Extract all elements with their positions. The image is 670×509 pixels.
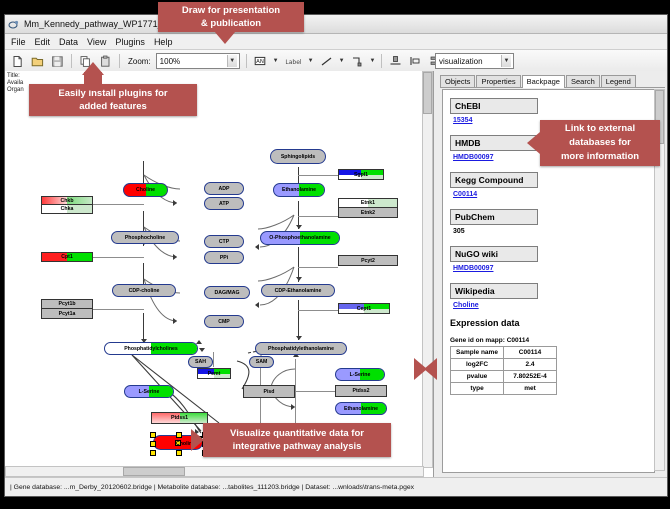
menu-item-plugins[interactable]: Plugins xyxy=(115,37,145,47)
callout-plugins-stem xyxy=(84,72,102,90)
meta-title-label: Title: xyxy=(7,73,24,80)
arrow-left-1 xyxy=(255,244,259,250)
node-label: Pcyt1b xyxy=(58,301,75,307)
callout-install-plugins: Easily install plugins for added feature… xyxy=(29,84,197,116)
node-cdp-ethanolamine[interactable]: CDP-Ethanolamine xyxy=(261,284,335,297)
meta-organism-label: Organ xyxy=(7,87,24,94)
node-label: Ptdss1 xyxy=(171,415,188,421)
node-label: Cept1 xyxy=(357,306,371,312)
selection-handle-n[interactable] xyxy=(176,432,182,438)
node-gene-ptdss2[interactable]: Ptdss2 xyxy=(335,385,387,397)
arrow-right-adp xyxy=(173,200,177,206)
expression-data-table: Sample name C00114 log2FC 2.4 pvalue 7.8… xyxy=(450,346,557,395)
shape-icon[interactable] xyxy=(350,54,365,69)
node-label: Pcyt1a xyxy=(59,311,76,317)
callout-draw-pointer-icon xyxy=(214,31,236,44)
callout-link-line2: databases for xyxy=(569,136,631,150)
node-gene-pcyt1b[interactable]: Pcyt1b xyxy=(41,299,93,309)
node-label: CDP-Ethanolamine xyxy=(275,288,322,294)
selection-handle-nw[interactable] xyxy=(150,432,156,438)
node-label: Phosphatidylethanolamine xyxy=(268,346,334,352)
db-header-pubchem: PubChem xyxy=(450,209,538,225)
selection-handle-s[interactable] xyxy=(176,450,182,456)
node-label: Chka xyxy=(61,206,74,212)
db-header-nugo-wiki: NuGO wiki xyxy=(450,246,538,262)
zoom-value: 100% xyxy=(160,57,180,66)
callout-draw-line2: & publication xyxy=(201,17,261,30)
node-label: Sphingolipids xyxy=(281,154,315,160)
tab-properties[interactable]: Properties xyxy=(476,75,520,87)
node-gene-pemt[interactable]: Pemt xyxy=(197,368,231,379)
visualization-chevron-down-icon[interactable]: ▼ xyxy=(501,55,511,67)
label-dropdown-icon[interactable]: ▼ xyxy=(308,58,314,64)
db-header-kegg-compound: Kegg Compound xyxy=(450,172,538,188)
save-icon[interactable] xyxy=(50,54,65,69)
db-header-wikipedia: Wikipedia xyxy=(450,283,538,299)
node-adp[interactable]: ADP xyxy=(204,182,244,195)
node-label: Ethanolamine xyxy=(282,187,316,193)
gene-id-on-mapp-label: Gene id on mapp: C00114 xyxy=(450,337,650,344)
node-label: SAH xyxy=(195,359,206,365)
db-link-kegg-compound[interactable]: C00114 xyxy=(453,191,650,198)
menu-item-view[interactable]: View xyxy=(87,37,106,47)
menu-item-edit[interactable]: Edit xyxy=(35,37,51,47)
pathway-canvas[interactable]: Title: Availa Organ xyxy=(5,71,433,471)
node-label: CMP xyxy=(218,319,230,325)
node-gene-chkb[interactable]: Chkb xyxy=(41,196,93,205)
node-dag-mag[interactable]: DAG/MAG xyxy=(204,286,250,299)
node-gene-pcyt1a[interactable]: Pcyt1a xyxy=(41,309,93,319)
zoom-label: Zoom: xyxy=(128,57,151,66)
node-gene-etnk2[interactable]: Etnk2 xyxy=(338,208,398,218)
toolbar-separator-4 xyxy=(381,54,382,68)
screenshot-root: Mm_Kennedy_pathway_WP1771_45176.gpml Fil… xyxy=(0,0,670,509)
expression-data-heading: Expression data xyxy=(450,318,650,328)
node-gene-pisd[interactable]: Pisd xyxy=(243,385,295,398)
node-atp[interactable]: ATP xyxy=(204,197,244,210)
open-icon[interactable] xyxy=(30,54,45,69)
arrow-right-ppi xyxy=(173,254,177,260)
canvas-vscroll-thumb[interactable] xyxy=(423,72,432,114)
callout-plugins-line1: Easily install plugins for xyxy=(58,87,167,100)
label-icon[interactable]: Label xyxy=(284,54,303,69)
node-label: Cpt1 xyxy=(61,254,73,260)
node-gene-etnk1[interactable]: Etnk1 xyxy=(338,198,398,208)
node-label: Choline xyxy=(136,187,155,193)
node-label: Pcyt2 xyxy=(361,258,375,264)
selection-handle-w[interactable] xyxy=(150,441,156,447)
cell-key: type xyxy=(451,383,504,395)
node-label: Pisd xyxy=(264,389,275,395)
node-ethanolamine[interactable]: Ethanolamine xyxy=(273,183,325,197)
align-left-icon[interactable] xyxy=(408,54,423,69)
node-label: ATP xyxy=(219,201,229,207)
selection-handle-sw[interactable] xyxy=(150,450,156,456)
arrow-right-cmp xyxy=(173,318,177,324)
callout-visualize-data: Visualize quantitative data for integrat… xyxy=(203,423,391,457)
node-label: Ethanolamine xyxy=(344,406,378,412)
datanode-dropdown-icon[interactable]: ▼ xyxy=(273,58,279,64)
db-link-nugo-wiki[interactable]: HMDB00097 xyxy=(453,265,650,272)
node-gene-cept1[interactable]: Cept1 xyxy=(338,303,390,314)
edge-cpt1-link xyxy=(93,257,144,258)
edge-chk-link xyxy=(93,204,144,205)
db-link-wikipedia[interactable]: Choline xyxy=(453,302,650,309)
cell-value: C00114 xyxy=(504,347,557,359)
edge-etnk-link xyxy=(298,216,338,217)
pathway-canvas-container[interactable]: Title: Availa Organ xyxy=(5,71,434,477)
node-label: Phosphatidylcholines xyxy=(124,346,178,352)
callout-expression-pointer-icon xyxy=(424,358,437,380)
table-row: Sample name C00114 xyxy=(451,347,557,359)
node-choline[interactable]: Choline xyxy=(123,183,168,197)
shape-dropdown-icon[interactable]: ▼ xyxy=(370,58,376,64)
callout-draw-line1: Draw for presentation xyxy=(182,4,280,17)
node-label: Phosphocholine xyxy=(125,235,165,241)
line-dropdown-icon[interactable]: ▼ xyxy=(339,58,345,64)
line-icon[interactable] xyxy=(319,54,334,69)
datanode-icon[interactable]: AN xyxy=(253,54,268,69)
tab-objects[interactable]: Objects xyxy=(440,75,475,87)
callout-draw-presentation: Draw for presentation & publication xyxy=(158,2,304,32)
callout-visualize-pointer-icon xyxy=(191,429,204,451)
canvas-horizontal-scrollbar[interactable] xyxy=(5,466,424,477)
node-gene-pcyt2[interactable]: Pcyt2 xyxy=(338,255,398,266)
callout-viz-line2: integrative pathway analysis xyxy=(233,440,362,453)
app-icon xyxy=(8,18,20,30)
menu-item-data[interactable]: Data xyxy=(59,37,78,47)
title-bar: Mm_Kennedy_pathway_WP1771_45176.gpml xyxy=(5,15,667,34)
callout-link-pointer-icon xyxy=(527,132,540,154)
node-gene-cpt1[interactable]: Cpt1 xyxy=(41,252,93,262)
zoom-combobox[interactable]: 100% ▼ xyxy=(156,53,240,69)
db-value-pubchem: 305 xyxy=(453,228,650,235)
node-phosphocholine[interactable]: Phosphocholine xyxy=(111,231,179,244)
svg-text:Label: Label xyxy=(285,59,302,66)
node-sam[interactable]: SAM xyxy=(249,356,274,368)
node-label: Ptdss2 xyxy=(352,388,369,394)
node-label: Sgpl1 xyxy=(354,172,368,178)
arrow-pemt xyxy=(199,348,205,352)
cell-key: pvalue xyxy=(451,371,504,383)
visualization-value: visualization xyxy=(439,57,483,66)
cell-value: met xyxy=(504,383,557,395)
node-label: PPi xyxy=(220,255,228,261)
toolbar-separator-3 xyxy=(246,54,247,68)
node-label: O-Phosphoethanolamine xyxy=(269,235,330,241)
cell-key: log2FC xyxy=(451,359,504,371)
node-label: L-Serine xyxy=(350,372,371,378)
callout-viz-line1: Visualize quantitative data for xyxy=(230,427,364,440)
table-row: type met xyxy=(451,383,557,395)
new-icon[interactable] xyxy=(10,54,25,69)
node-cdp-choline[interactable]: CDP-choline xyxy=(112,284,176,297)
node-label: Chkb xyxy=(61,198,74,204)
callout-link-line1: Link to external xyxy=(565,122,635,136)
node-ctp[interactable]: CTP xyxy=(204,235,244,248)
menu-item-file[interactable]: File xyxy=(11,37,26,47)
canvas-hscroll-thumb[interactable] xyxy=(123,467,185,476)
node-l-serine-left[interactable]: L-Serine xyxy=(124,385,174,398)
svg-text:AN: AN xyxy=(256,59,264,65)
meta-available-label: Availa xyxy=(7,80,24,87)
node-ethanolamine-bottom[interactable]: Ethanolamine xyxy=(335,402,387,415)
application-window: Mm_Kennedy_pathway_WP1771_45176.gpml Fil… xyxy=(4,14,668,497)
status-bar: | Gene database: ...m_Derby_20120602.bri… xyxy=(5,477,667,496)
node-label: CDP-choline xyxy=(129,288,160,294)
cell-value: 2.4 xyxy=(504,359,557,371)
canvas-vertical-scrollbar[interactable] xyxy=(422,71,433,468)
node-cmp[interactable]: CMP xyxy=(204,315,244,328)
node-l-serine-right[interactable]: L-Serine xyxy=(335,368,385,381)
node-label: Pemt xyxy=(208,371,221,377)
callout-link-line3: more information xyxy=(561,150,639,164)
callout-plugins-line2: added features xyxy=(79,100,147,113)
cell-key: Sample name xyxy=(451,347,504,359)
arrow-left-2 xyxy=(255,302,259,308)
node-o-phosphoethanolamine[interactable]: O-Phosphoethanolamine xyxy=(260,231,340,245)
node-label: SAM xyxy=(256,359,268,365)
edge-sgpl1-link xyxy=(298,175,338,176)
node-label: DAG/MAG xyxy=(214,290,239,296)
node-sphingolipids[interactable]: Sphingolipids xyxy=(270,149,326,164)
tab-backpage[interactable]: Backpage xyxy=(522,75,565,88)
chevron-down-icon[interactable]: ▼ xyxy=(227,55,237,67)
visualization-combobox[interactable]: visualization ▼ xyxy=(435,53,514,69)
node-phosphatidylcholines[interactable]: Phosphatidylcholines xyxy=(104,342,198,355)
status-bar-text: | Gene database: ...m_Derby_20120602.bri… xyxy=(5,484,414,491)
align-top-icon[interactable] xyxy=(388,54,403,69)
node-label: Etnk1 xyxy=(361,200,375,206)
edge-pemt-link xyxy=(213,352,214,367)
toolbar-separator-2 xyxy=(119,54,120,68)
toolbar-separator-1 xyxy=(71,54,72,68)
node-sah[interactable]: SAH xyxy=(188,356,213,368)
table-row: pvalue 7.80252E-4 xyxy=(451,371,557,383)
node-phosphatidylethanolamine[interactable]: Phosphatidylethanolamine xyxy=(255,342,347,355)
node-ppi[interactable]: PPi xyxy=(204,251,244,264)
db-header-chebi: ChEBI xyxy=(450,98,538,114)
tab-legend[interactable]: Legend xyxy=(601,75,636,87)
node-gene-sgpl1[interactable]: Sgpl1 xyxy=(338,169,384,180)
side-panel-tabs: Objects Properties Backpage Search Legen… xyxy=(440,73,665,88)
node-gene-chka[interactable]: Chka xyxy=(41,205,93,214)
menu-bar: File Edit Data View Plugins Help xyxy=(5,34,667,50)
edge-cept1-link xyxy=(298,310,338,311)
node-gene-ptdss1[interactable]: Ptdss1 xyxy=(151,412,208,424)
edge-pcyt2-link xyxy=(298,267,338,268)
db-header-hmdb: HMDB xyxy=(450,135,538,151)
tab-search[interactable]: Search xyxy=(566,75,600,87)
table-row: log2FC 2.4 xyxy=(451,359,557,371)
toolbar: Zoom: 100% ▼ AN ▼ Label ▼ ▼ ▼ xyxy=(5,50,667,73)
cell-value: 7.80252E-4 xyxy=(504,371,557,383)
menu-item-help[interactable]: Help xyxy=(154,37,173,47)
callout-link-databases: Link to external databases for more info… xyxy=(540,120,660,166)
node-label: Choline xyxy=(175,440,181,446)
node-label: ADP xyxy=(219,186,230,192)
edge-pcyt1-link xyxy=(93,309,144,310)
node-label: CTP xyxy=(219,239,229,245)
node-label: L-Serine xyxy=(139,389,160,395)
pathway-meta-labels: Title: Availa Organ xyxy=(7,73,24,94)
node-label: Etnk2 xyxy=(361,210,375,216)
